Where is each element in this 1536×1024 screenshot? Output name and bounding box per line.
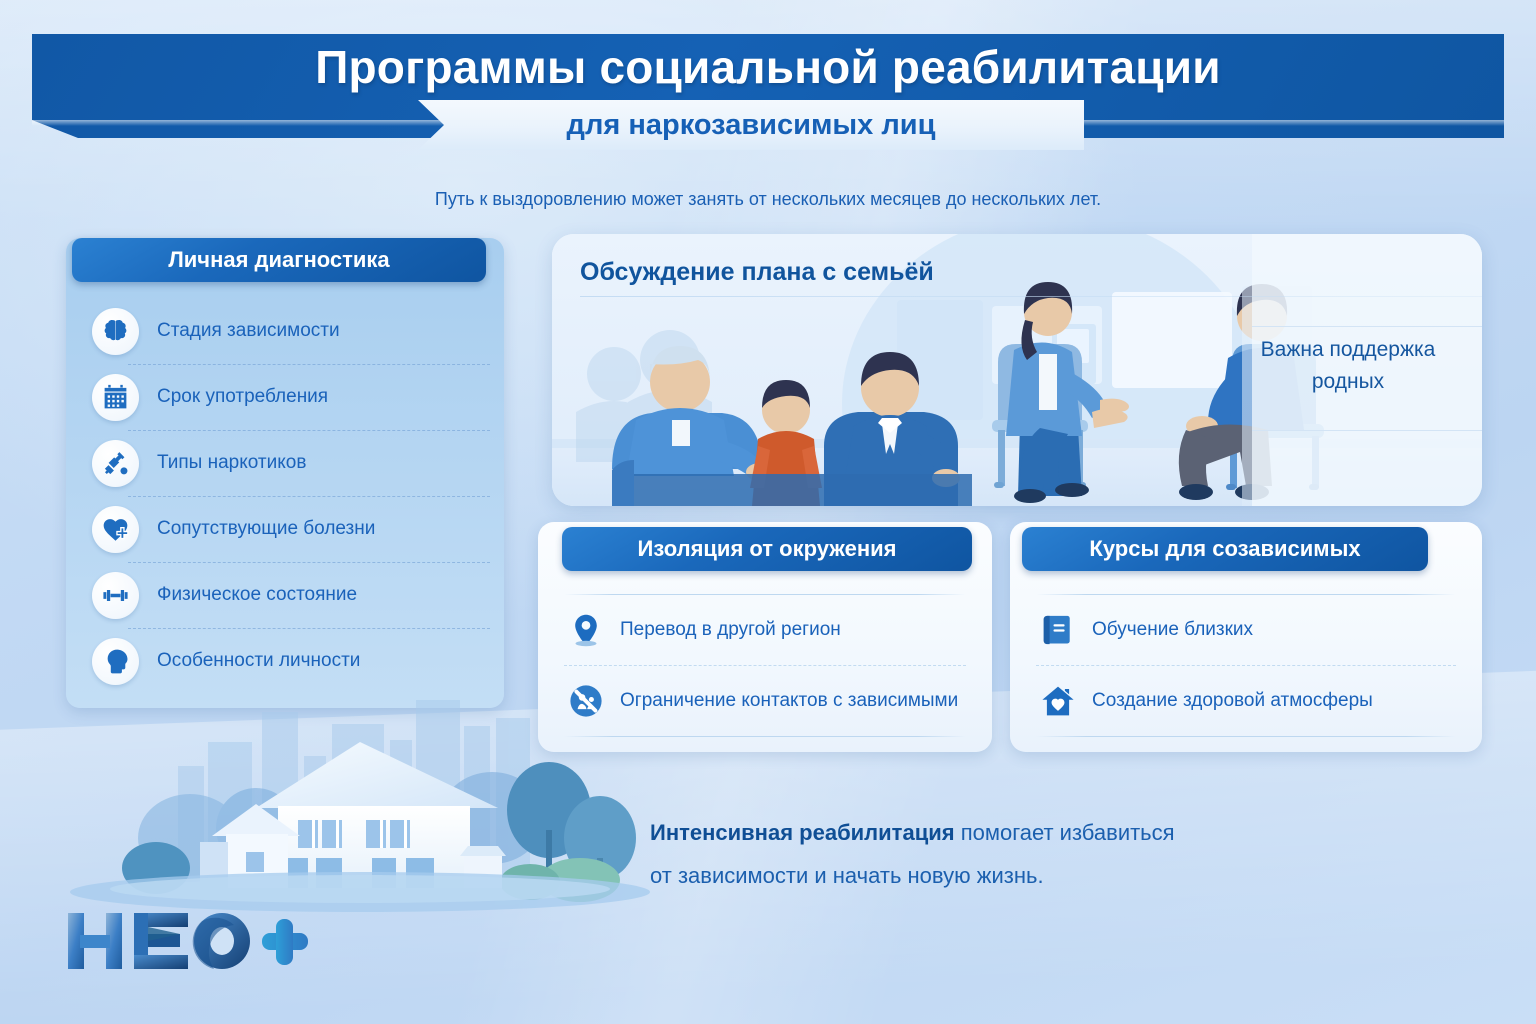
logo-plus-mark xyxy=(262,919,308,965)
diagnostics-badge: Личная диагностика xyxy=(72,238,486,282)
list-item[interactable]: Стадия зависимости xyxy=(66,298,504,364)
diagnostics-list: Стадия зависимости Срок употребления Тип… xyxy=(66,298,504,694)
list-item[interactable]: Особенности личности xyxy=(66,628,504,694)
brain-icon xyxy=(92,308,139,355)
closing-strong: Интенсивная реабилитация xyxy=(650,820,955,845)
codependents-badge: Курсы для созависимых xyxy=(1022,527,1428,571)
illustration-title: Обсуждение плана с семьёй xyxy=(580,258,934,287)
infographic-poster: Программы социальной реабилитации для на… xyxy=(0,0,1536,1024)
closing-statement: Интенсивная реабилитация помогает избави… xyxy=(650,812,1350,898)
family-discussion-card: Обсуждение плана с семьёй Важна поддержк… xyxy=(552,234,1482,506)
book-icon xyxy=(1038,610,1078,650)
logo-letter-e xyxy=(134,913,188,969)
list-item[interactable]: Сопутствующие болезни xyxy=(66,496,504,562)
logo-letter-o xyxy=(193,913,250,969)
dumbbell-icon xyxy=(92,572,139,619)
codependents-list: Обучение близких Создание здоровой атмос… xyxy=(1010,594,1482,737)
list-item[interactable]: Срок употребления xyxy=(66,364,504,430)
list-item[interactable]: Обучение близких xyxy=(1032,595,1460,665)
page-title: Программы социальной реабилитации xyxy=(0,40,1536,94)
tagline-text: Путь к выздоровлению может занять от нес… xyxy=(0,189,1536,210)
list-item-label: Создание здоровой атмосферы xyxy=(1092,690,1373,712)
divider xyxy=(1036,736,1456,737)
title-divider xyxy=(580,296,1482,297)
logo-letter-n xyxy=(68,913,122,969)
list-item-label: Обучение близких xyxy=(1092,619,1253,641)
heart-plus-icon xyxy=(92,506,139,553)
list-item[interactable]: Типы наркотиков xyxy=(66,430,504,496)
isolation-badge: Изоляция от окружения xyxy=(562,527,972,571)
closing-line-2: от зависимости и начать новую жизнь. xyxy=(650,855,1350,898)
syringe-icon xyxy=(92,440,139,487)
list-item-label: Особенности личности xyxy=(157,650,360,672)
page-subtitle: для наркозависимых лиц xyxy=(418,100,1084,150)
list-item-label: Срок употребления xyxy=(157,386,328,408)
closing-rest: помогает избавиться xyxy=(955,820,1175,845)
calendar-icon xyxy=(92,374,139,421)
list-item[interactable]: Физическое состояние xyxy=(66,562,504,628)
list-item-label: Перевод в другой регион xyxy=(620,619,841,641)
list-item[interactable]: Перевод в другой регион xyxy=(560,595,970,665)
head-profile-icon xyxy=(92,638,139,685)
list-item-label: Физическое состояние xyxy=(157,584,357,606)
logo-neo-plus[interactable] xyxy=(62,905,312,977)
list-item-label: Сопутствующие болезни xyxy=(157,518,375,540)
list-item-label: Стадия зависимости xyxy=(157,320,340,342)
house-city-illustration xyxy=(60,690,680,920)
list-item[interactable]: Создание здоровой атмосферы xyxy=(1032,666,1460,736)
closing-line-1: Интенсивная реабилитация помогает избави… xyxy=(650,812,1350,855)
support-callout: Важна поддержка родных xyxy=(1232,334,1464,397)
list-item-label: Типы наркотиков xyxy=(157,452,306,474)
location-pin-icon xyxy=(566,610,606,650)
house-heart-icon xyxy=(1038,681,1078,721)
